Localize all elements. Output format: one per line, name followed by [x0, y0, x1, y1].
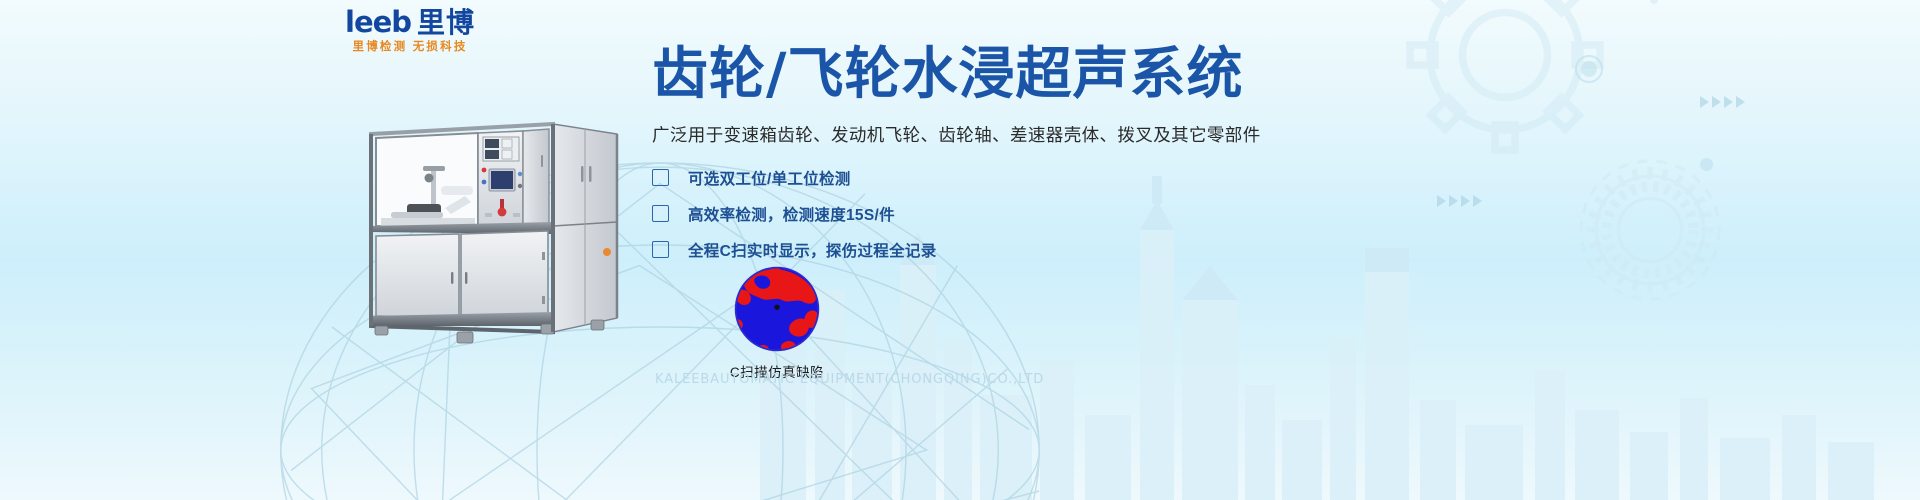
checkbox-outline-icon [652, 205, 669, 222]
gear-decor-right-icon [1560, 140, 1740, 320]
logo-chinese-text: 里博 [417, 9, 475, 37]
list-item[interactable]: 高效率检测，检测速度15S/件 [652, 203, 1552, 225]
company-watermark: KALEEBAUTOMATIC EQUIPMENT(CHONGQING)CO.,… [655, 372, 1044, 387]
feature-label: 可选双工位/单工位检测 [688, 167, 851, 189]
feature-label: 全程C扫实时显示，探伤过程全记录 [688, 239, 937, 261]
machine-product-image [345, 100, 635, 350]
checkbox-outline-icon [652, 241, 669, 258]
feature-list: 可选双工位/单工位检测 高效率检测，检测速度15S/件 全程C扫实时显示，探伤过… [652, 167, 1552, 261]
logo-tagline: 里博检测 无损科技 [345, 42, 475, 54]
logo-wordmark: leeb 里博 [345, 8, 475, 37]
page-title: 齿轮/飞轮水浸超声系统 [652, 44, 1552, 106]
hero-subtitle: 广泛用于变速箱齿轮、发动机飞轮、齿轮轴、差速器壳体、拨叉及其它零部件 [652, 122, 1552, 147]
brand-logo[interactable]: leeb 里博 里博检测 无损科技 [345, 8, 475, 54]
cscan-figure: C扫描仿真缺陷 [672, 265, 882, 381]
cscan-result-image [733, 265, 821, 353]
ring-decor-icon [1575, 55, 1603, 83]
dot-decor-small-icon [1650, 0, 1658, 4]
logo-latin-text: leeb [345, 8, 411, 37]
hero-copy-column: 齿轮/飞轮水浸超声系统 广泛用于变速箱齿轮、发动机飞轮、齿轮轴、差速器壳体、拨叉… [652, 44, 1552, 275]
checkbox-outline-icon [652, 169, 669, 186]
cscan-disc-wrap [733, 265, 821, 353]
chevron-arrows-right-icon [1700, 96, 1745, 108]
list-item[interactable]: 可选双工位/单工位检测 [652, 167, 1552, 189]
list-item[interactable]: 全程C扫实时显示，探伤过程全记录 [652, 239, 1552, 261]
promo-banner: leeb 里博 里博检测 无损科技 [0, 0, 1920, 500]
dot-decor-icon [1700, 158, 1713, 171]
feature-label: 高效率检测，检测速度15S/件 [688, 203, 895, 225]
